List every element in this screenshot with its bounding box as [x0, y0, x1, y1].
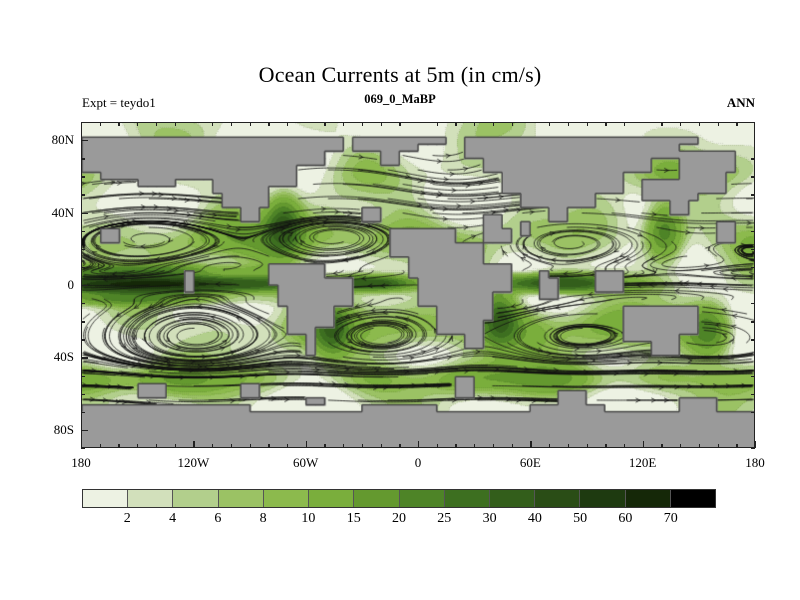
x-minor-tick: [100, 122, 101, 126]
x-minor-tick: [512, 122, 513, 126]
ocean-current-map: [82, 123, 754, 447]
x-tick-label: 180: [745, 455, 765, 471]
y-tick-mark: [81, 213, 88, 214]
x-minor-tick: [437, 122, 438, 126]
x-minor-tick: [718, 444, 719, 448]
x-minor-tick: [231, 122, 232, 126]
x-minor-tick: [587, 122, 588, 126]
x-minor-tick: [568, 122, 569, 126]
y-minor-tick: [81, 412, 85, 413]
x-tick-mark: [193, 441, 194, 448]
x-tick-label: 120W: [177, 455, 209, 471]
x-minor-tick: [362, 444, 363, 448]
x-minor-tick: [680, 122, 681, 126]
y-minor-tick: [751, 122, 755, 123]
x-minor-tick: [175, 122, 176, 126]
x-minor-tick: [118, 122, 119, 126]
x-minor-tick: [699, 122, 700, 126]
x-minor-tick: [680, 444, 681, 448]
x-minor-tick: [137, 444, 138, 448]
x-minor-tick: [381, 122, 382, 126]
y-minor-tick: [81, 267, 85, 268]
x-tick-mark: [306, 441, 307, 448]
colorbar-tick-label: 30: [483, 511, 497, 527]
colorbar-cell: [580, 490, 625, 507]
colorbar-cell: [173, 490, 218, 507]
x-minor-tick: [587, 444, 588, 448]
x-minor-tick: [343, 444, 344, 448]
y-minor-tick: [81, 448, 85, 449]
x-tick-mark: [418, 441, 419, 448]
y-minor-tick: [751, 448, 755, 449]
x-minor-tick: [287, 444, 288, 448]
x-minor-tick: [455, 444, 456, 448]
y-tick-label: 80N: [14, 132, 74, 148]
colorbar-cell: [354, 490, 399, 507]
y-tick-label: 40S: [14, 349, 74, 365]
x-minor-tick: [137, 122, 138, 126]
x-minor-tick: [624, 444, 625, 448]
y-minor-tick: [751, 412, 755, 413]
x-minor-tick: [474, 122, 475, 126]
colorbar-cell: [264, 490, 309, 507]
colorbar: [82, 489, 716, 508]
x-tick-mark: [755, 441, 756, 448]
y-minor-tick: [751, 158, 755, 159]
x-minor-tick: [156, 122, 157, 126]
x-minor-tick: [399, 444, 400, 448]
x-tick-label: 60W: [293, 455, 318, 471]
y-minor-tick: [81, 176, 85, 177]
y-minor-tick: [751, 303, 755, 304]
y-tick-mark: [81, 285, 88, 286]
colorbar-tick-label: 4: [169, 511, 176, 527]
experiment-label: Expt = teydo1: [82, 95, 156, 111]
y-tick-label: 80S: [14, 422, 74, 438]
y-tick-mark: [81, 140, 88, 141]
x-minor-tick: [175, 444, 176, 448]
y-minor-tick: [751, 231, 755, 232]
x-minor-tick: [250, 444, 251, 448]
x-minor-tick: [605, 122, 606, 126]
y-minor-tick: [751, 394, 755, 395]
y-tick-mark: [81, 430, 88, 431]
x-minor-tick: [212, 122, 213, 126]
colorbar-cell: [535, 490, 580, 507]
colorbar-tick-label: 15: [347, 511, 361, 527]
page-title: Ocean Currents at 5m (in cm/s): [0, 62, 800, 88]
colorbar-cell: [309, 490, 354, 507]
x-minor-tick: [250, 122, 251, 126]
colorbar-tick-label: 2: [124, 511, 131, 527]
colorbar-cell: [219, 490, 264, 507]
x-minor-tick: [231, 444, 232, 448]
y-minor-tick: [751, 339, 755, 340]
x-minor-tick: [156, 444, 157, 448]
colorbar-cell: [128, 490, 173, 507]
x-minor-tick: [512, 444, 513, 448]
y-minor-tick: [751, 376, 755, 377]
x-minor-tick: [118, 444, 119, 448]
x-minor-tick: [381, 444, 382, 448]
x-minor-tick: [324, 122, 325, 126]
x-minor-tick: [624, 122, 625, 126]
map-plot-area: [81, 122, 755, 448]
x-minor-tick: [549, 122, 550, 126]
y-minor-tick: [81, 339, 85, 340]
figure-root: Ocean Currents at 5m (in cm/s) 069_0_MaB…: [0, 0, 800, 600]
colorbar-cell: [490, 490, 535, 507]
y-tick-label: 0: [14, 277, 74, 293]
colorbar-tick-label: 60: [618, 511, 632, 527]
x-minor-tick: [437, 444, 438, 448]
y-minor-tick: [81, 158, 85, 159]
y-minor-tick: [81, 122, 85, 123]
y-minor-tick: [81, 376, 85, 377]
x-minor-tick: [455, 122, 456, 126]
colorbar-tick-label: 10: [301, 511, 315, 527]
colorbar-tick-label: 6: [214, 511, 221, 527]
y-minor-tick: [81, 394, 85, 395]
x-tick-label: 180: [71, 455, 91, 471]
x-minor-tick: [474, 444, 475, 448]
x-minor-tick: [212, 444, 213, 448]
x-tick-label: 120E: [629, 455, 656, 471]
y-minor-tick: [751, 321, 755, 322]
x-tick-label: 60E: [520, 455, 541, 471]
x-minor-tick: [268, 122, 269, 126]
season-label: ANN: [727, 95, 755, 111]
y-minor-tick: [81, 321, 85, 322]
x-minor-tick: [661, 122, 662, 126]
x-minor-tick: [718, 122, 719, 126]
x-tick-mark: [81, 441, 82, 448]
x-minor-tick: [736, 444, 737, 448]
x-minor-tick: [493, 444, 494, 448]
x-minor-tick: [100, 444, 101, 448]
x-minor-tick: [699, 444, 700, 448]
colorbar-cell: [400, 490, 445, 507]
x-minor-tick: [493, 122, 494, 126]
colorbar-tick-label: 8: [260, 511, 267, 527]
x-minor-tick: [661, 444, 662, 448]
y-minor-tick: [81, 194, 85, 195]
x-minor-tick: [736, 122, 737, 126]
colorbar-cell: [626, 490, 671, 507]
colorbar-tick-label: 70: [664, 511, 678, 527]
x-tick-label: 0: [415, 455, 422, 471]
x-minor-tick: [268, 444, 269, 448]
x-minor-tick: [549, 444, 550, 448]
colorbar-tick-label: 50: [573, 511, 587, 527]
y-minor-tick: [751, 176, 755, 177]
y-minor-tick: [751, 249, 755, 250]
y-minor-tick: [81, 303, 85, 304]
x-minor-tick: [605, 444, 606, 448]
y-tick-mark: [81, 357, 88, 358]
y-tick-label: 40N: [14, 205, 74, 221]
y-minor-tick: [81, 249, 85, 250]
x-minor-tick: [324, 444, 325, 448]
colorbar-cell: [671, 490, 715, 507]
colorbar-tick-label: 20: [392, 511, 406, 527]
colorbar-cell: [445, 490, 490, 507]
x-minor-tick: [399, 122, 400, 126]
y-minor-tick: [751, 267, 755, 268]
x-tick-mark: [530, 441, 531, 448]
colorbar-cell: [83, 490, 128, 507]
x-minor-tick: [287, 122, 288, 126]
x-minor-tick: [343, 122, 344, 126]
colorbar-tick-label: 40: [528, 511, 542, 527]
x-tick-mark: [643, 441, 644, 448]
colorbar-tick-label: 25: [437, 511, 451, 527]
y-minor-tick: [751, 194, 755, 195]
x-minor-tick: [568, 444, 569, 448]
y-minor-tick: [81, 231, 85, 232]
x-minor-tick: [362, 122, 363, 126]
